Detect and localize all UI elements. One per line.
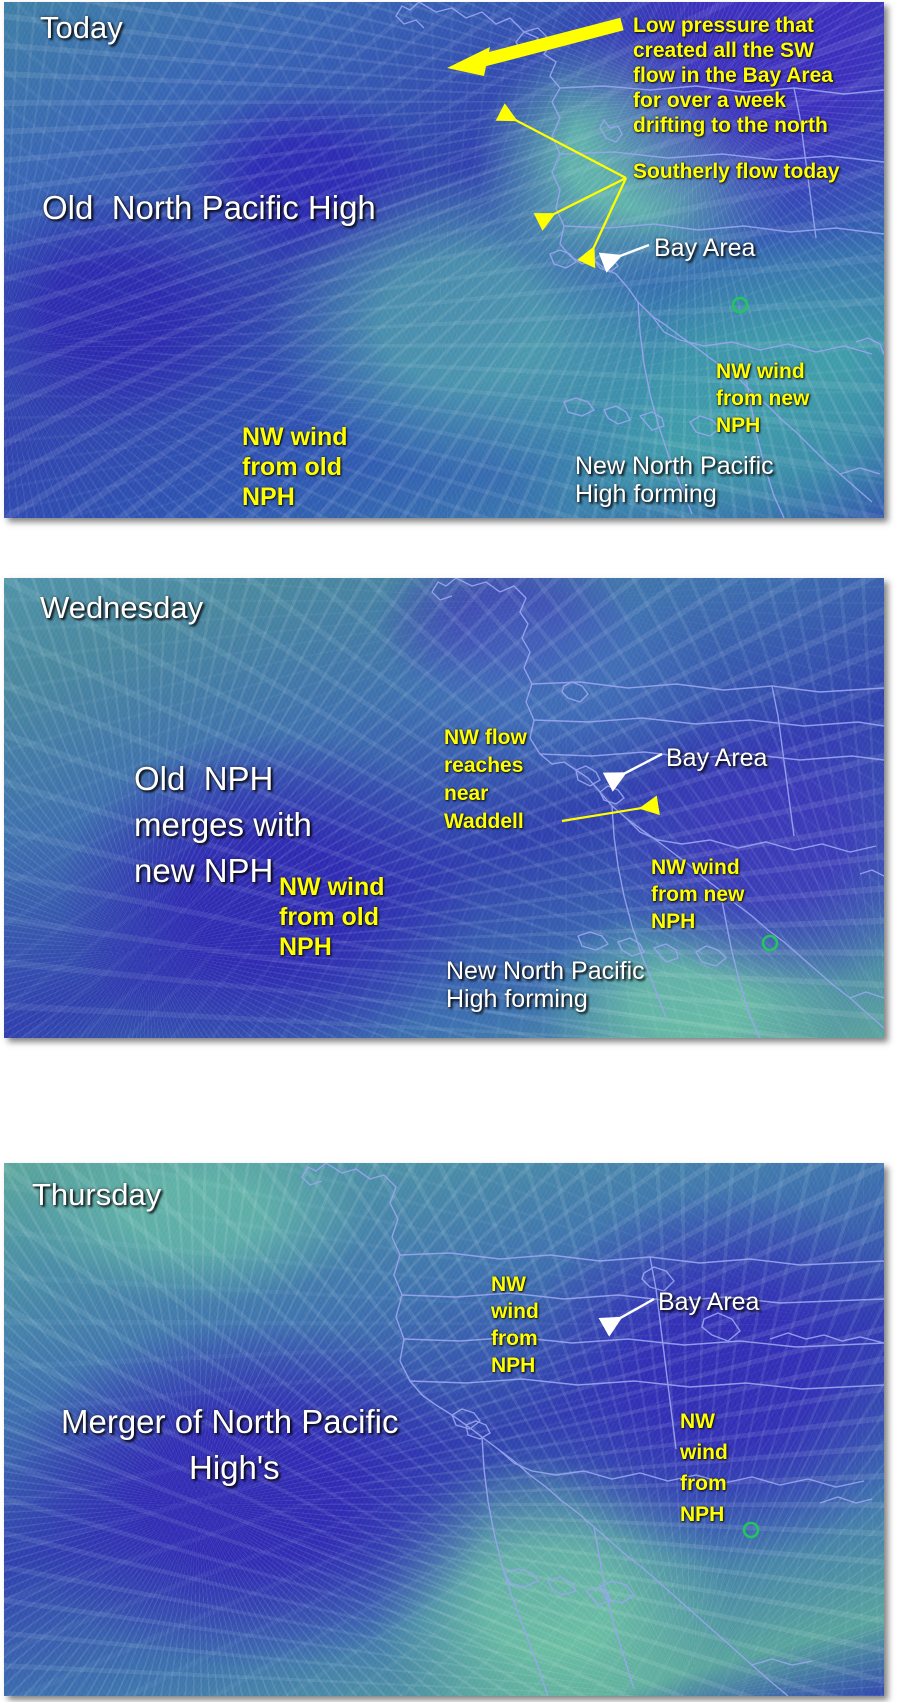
annotation-nw-coast-l3: from (491, 1327, 538, 1352)
annotation-nw-old-nph-l1: NW wind (242, 423, 348, 453)
annotation-nw-new-nph-l1: NW wind (716, 360, 805, 385)
label-new-nph-forming-wed-l1: New North Pacific (446, 957, 645, 987)
day-label-thursday: Thursday (32, 1177, 161, 1214)
annotation-low-pressure-l2: created all the SW (633, 39, 814, 64)
panel-wednesday[interactable]: Wednesday Old NPH merges with new NPH Ba… (4, 578, 884, 1038)
annotation-low-pressure-l3: flow in the Bay Area (633, 64, 833, 89)
annotation-nw-old-nph-wed-l3: NPH (279, 933, 332, 963)
wind-map-series-page: Today Old North Pacific High Bay Area Ne… (0, 0, 906, 1702)
annotation-nw-south-l4: NPH (680, 1503, 724, 1528)
annotation-nw-old-nph-wed-l2: from old (279, 903, 379, 933)
annotation-nw-new-nph-l2: from new (716, 387, 809, 412)
label-new-nph-forming-today-l1: New North Pacific (575, 452, 774, 482)
label-bay-area-today: Bay Area (654, 234, 755, 264)
annotation-nw-new-nph-wed-l2: from new (651, 883, 744, 908)
annotation-southerly-flow-today: Southerly flow today (633, 160, 840, 185)
annotation-nw-south-l2: wind (680, 1441, 728, 1466)
annotation-nw-old-nph-l3: NPH (242, 483, 295, 513)
day-label-today: Today (40, 10, 123, 47)
annotation-waddell-l3: near (444, 782, 488, 807)
annotation-low-pressure-l1: Low pressure that (633, 14, 814, 39)
annotation-nw-coast-l4: NPH (491, 1354, 535, 1379)
day-label-wednesday: Wednesday (40, 590, 203, 627)
label-new-nph-forming-wed-l2: High forming (446, 985, 588, 1015)
annotation-waddell-l4: Waddell (444, 810, 524, 835)
buoy-marker-icon (763, 936, 777, 950)
panel-thursday[interactable]: Thursday Merger of North Pacific High's … (4, 1163, 884, 1696)
label-bay-area-thursday: Bay Area (658, 1288, 759, 1318)
label-old-nph-merges-l2: merges with (134, 806, 312, 845)
annotation-nw-old-nph-wed-l1: NW wind (279, 873, 385, 903)
label-merger-nph-l2: High's (189, 1449, 280, 1488)
annotation-nw-south-l1: NW (680, 1410, 715, 1435)
label-old-north-pacific-high: Old North Pacific High (42, 189, 376, 228)
annotation-waddell-l2: reaches (444, 754, 523, 779)
annotation-waddell-l1: NW flow (444, 726, 527, 751)
annotation-nw-new-nph-l3: NPH (716, 414, 760, 439)
annotation-low-pressure-l4: for over a week (633, 89, 786, 114)
annotation-nw-coast-l1: NW (491, 1273, 526, 1298)
annotation-nw-south-l3: from (680, 1472, 727, 1497)
buoy-marker-icon (733, 298, 747, 312)
annotation-nw-new-nph-wed-l3: NPH (651, 910, 695, 935)
label-old-nph-merges-l3: new NPH (134, 852, 273, 891)
label-bay-area-wednesday: Bay Area (666, 744, 767, 774)
annotation-nw-new-nph-wed-l1: NW wind (651, 856, 740, 881)
label-old-nph-merges-l1: Old NPH (134, 760, 273, 799)
buoy-marker-icon (744, 1523, 758, 1537)
panel-today[interactable]: Today Old North Pacific High Bay Area Ne… (4, 2, 884, 518)
annotation-nw-coast-l2: wind (491, 1300, 539, 1325)
label-merger-nph-l1: Merger of North Pacific (61, 1403, 398, 1442)
annotation-low-pressure-l5: drifting to the north (633, 114, 828, 139)
annotation-nw-old-nph-l2: from old (242, 453, 342, 483)
label-new-nph-forming-today-l2: High forming (575, 480, 717, 510)
